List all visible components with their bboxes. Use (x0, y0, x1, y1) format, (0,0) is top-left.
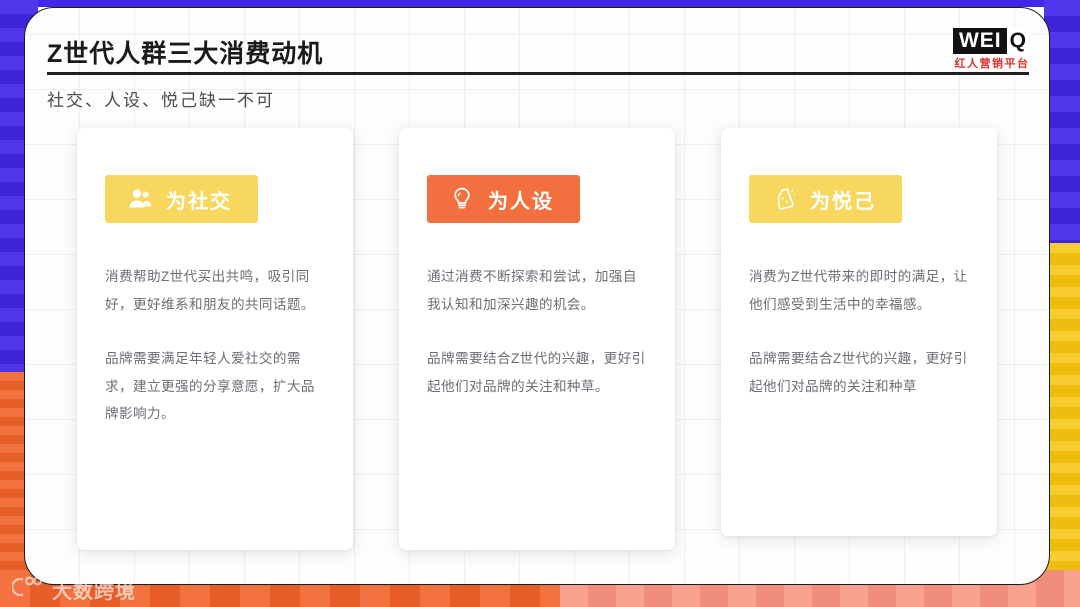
page-subtitle: 社交、人设、悦己缺一不可 (47, 86, 275, 111)
card-badge: 为悦己 (749, 175, 902, 223)
logo-tagline: 红人营销平台 (953, 55, 1031, 71)
logo-wordmark: WEI Q (953, 28, 1031, 54)
card-body: 通过消费不断探索和尝试，加强自我认知和加深兴趣的机会。 品牌需要结合Z世代的兴趣… (427, 263, 647, 400)
card-badge: 为社交 (105, 175, 258, 223)
logo-wordmark-secondary: Q (1007, 28, 1031, 54)
title-divider (47, 72, 1029, 75)
flask-icon (771, 186, 797, 212)
motivation-card: 为社交 消费帮助Z世代买出共鸣，吸引同好，更好维系和朋友的共同话题。 品牌需要满… (77, 128, 353, 550)
edge-top-strip (0, 0, 1080, 7)
card-badge-label: 为悦己 (810, 185, 876, 214)
card-body: 消费为Z世代带来的即时的满足，让他们感受到生活中的幸福感。 品牌需要结合Z世代的… (749, 263, 969, 400)
card-paragraph: 消费为Z世代带来的即时的满足，让他们感受到生活中的幸福感。 (749, 263, 969, 319)
card-paragraph: 消费帮助Z世代买出共鸣，吸引同好，更好维系和朋友的共同话题。 (105, 263, 325, 319)
slide-canvas: Z世代人群三大消费动机 社交、人设、悦己缺一不可 WEI Q 红人营销平台 (0, 0, 1080, 607)
lightbulb-icon (449, 186, 475, 212)
card-badge-label: 为社交 (166, 185, 232, 214)
card-paragraph: 品牌需要结合Z世代的兴趣，更好引起他们对品牌的关注和种草 (749, 345, 969, 401)
card-badge: 为人设 (427, 175, 580, 223)
motivation-card: 为人设 通过消费不断探索和尝试，加强自我认知和加深兴趣的机会。 品牌需要结合Z世… (399, 128, 675, 550)
card-paragraph: 品牌需要满足年轻人爱社交的需求，建立更强的分享意愿，扩大品牌影响力。 (105, 345, 325, 429)
users-icon (127, 186, 153, 212)
card-paragraph: 品牌需要结合Z世代的兴趣，更好引起他们对品牌的关注和种草。 (427, 345, 647, 401)
card-badge-label: 为人设 (488, 185, 554, 214)
logo-wordmark-primary: WEI (953, 28, 1007, 54)
card-paragraph: 通过消费不断探索和尝试，加强自我认知和加深兴趣的机会。 (427, 263, 647, 319)
motivation-card: 为悦己 消费为Z世代带来的即时的满足，让他们感受到生活中的幸福感。 品牌需要结合… (721, 128, 997, 536)
slide-page: Z世代人群三大消费动机 社交、人设、悦己缺一不可 WEI Q 红人营销平台 (24, 7, 1050, 585)
motivation-card-list: 为社交 消费帮助Z世代买出共鸣，吸引同好，更好维系和朋友的共同话题。 品牌需要满… (25, 128, 1049, 568)
brand-logo: WEI Q 红人营销平台 (953, 28, 1031, 71)
card-body: 消费帮助Z世代买出共鸣，吸引同好，更好维系和朋友的共同话题。 品牌需要满足年轻人… (105, 263, 325, 428)
slide-header: Z世代人群三大消费动机 社交、人设、悦己缺一不可 WEI Q 红人营销平台 (25, 8, 1049, 126)
page-title: Z世代人群三大消费动机 (47, 34, 323, 70)
